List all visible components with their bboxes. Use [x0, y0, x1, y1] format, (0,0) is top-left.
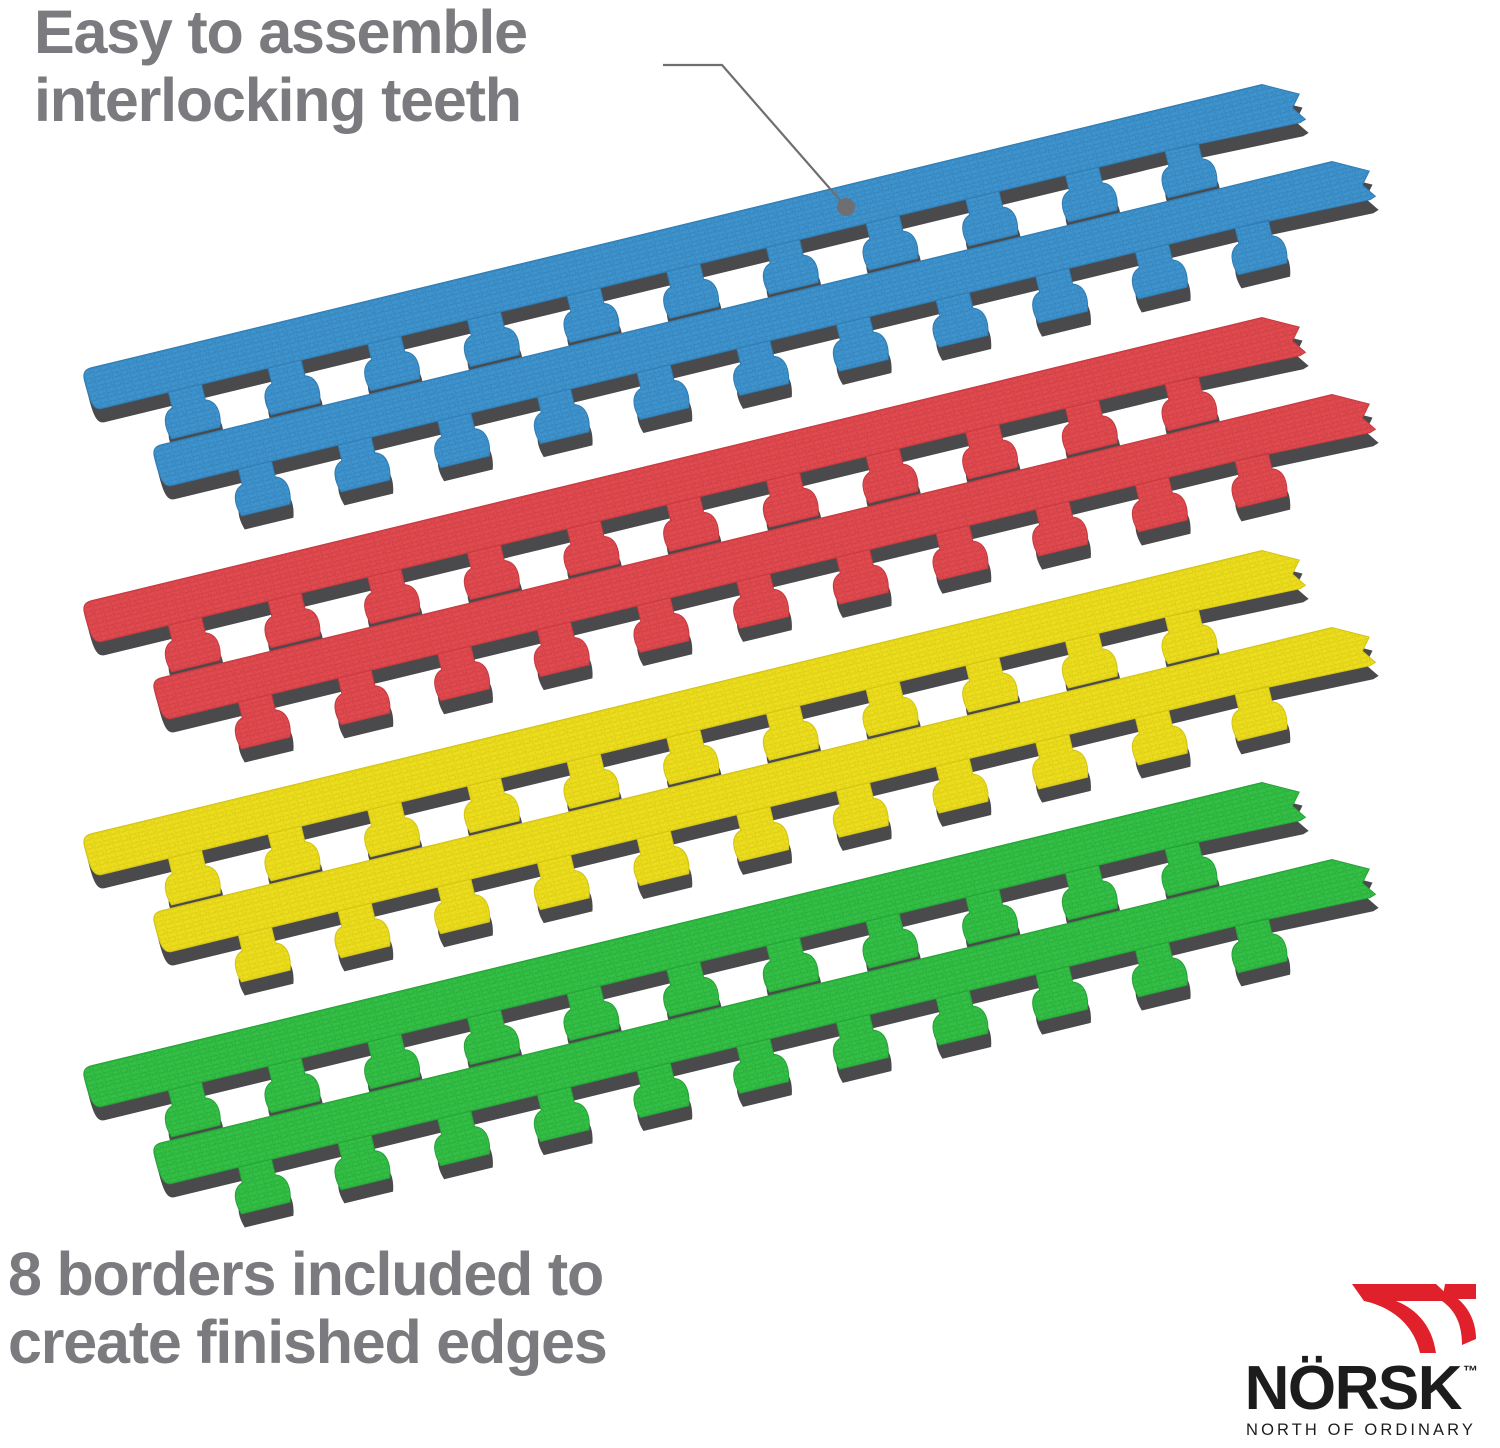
norsk-swoosh-icon	[1350, 1279, 1478, 1359]
product-image	[0, 0, 1500, 1260]
callout-text-interlocking-teeth: Easy to assemble interlocking teeth	[34, 0, 527, 135]
logo-tagline: NORTH OF ORDINARY	[1178, 1421, 1476, 1440]
brand-logo: NÖRSK ™ NORTH OF ORDINARY	[1178, 1279, 1478, 1440]
callout-text-borders-included: 8 borders included to create finished ed…	[8, 1240, 607, 1377]
logo-trademark-symbol: ™	[1463, 1365, 1478, 1379]
border-strip-group-green	[0, 0, 1500, 1260]
logo-wordmark: NÖRSK	[1245, 1361, 1461, 1417]
